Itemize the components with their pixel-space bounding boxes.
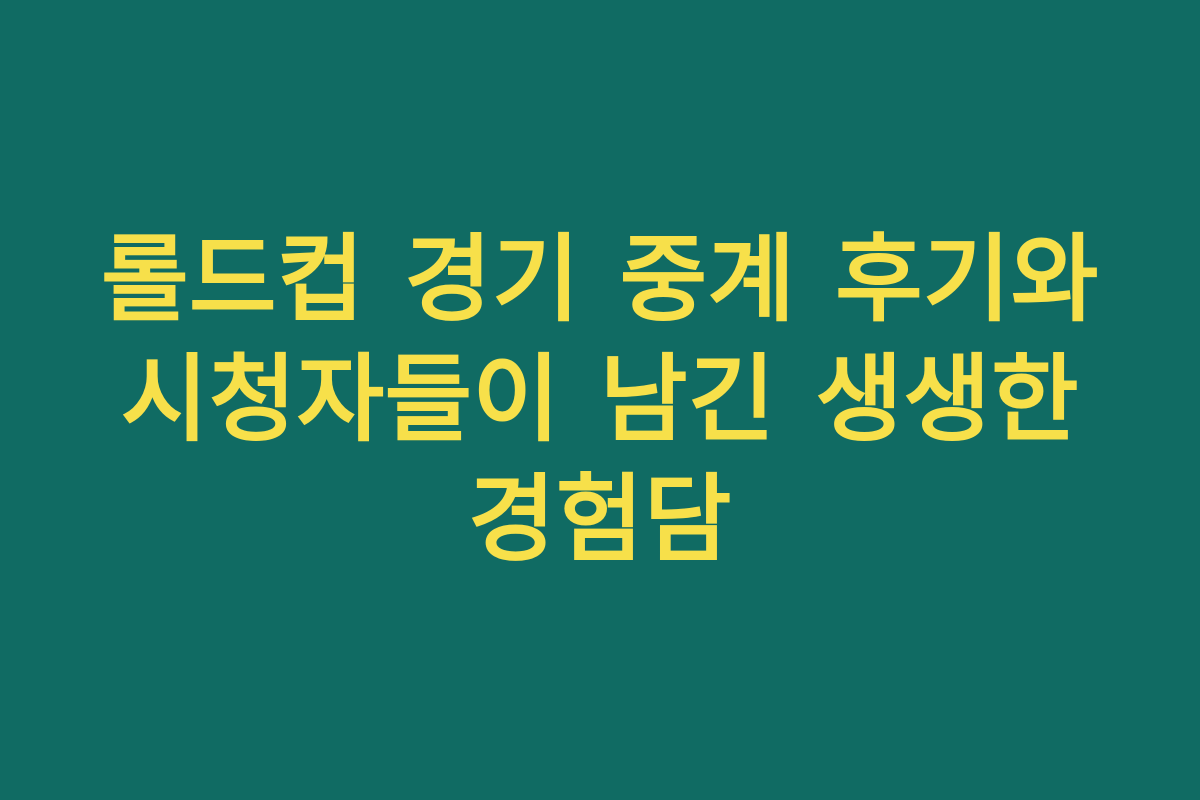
headline-block: 롤드컵 경기 중계 후기와 시청자들이 남긴 생생한 경험담 <box>60 220 1140 580</box>
headline-line-3: 경험담 <box>70 460 1130 580</box>
headline-line-1: 롤드컵 경기 중계 후기와 <box>70 220 1130 340</box>
title-banner: 롤드컵 경기 중계 후기와 시청자들이 남긴 생생한 경험담 <box>0 0 1200 800</box>
page-title: 롤드컵 경기 중계 후기와 시청자들이 남긴 생생한 경험담 <box>70 220 1130 580</box>
headline-line-2: 시청자들이 남긴 생생한 <box>70 340 1130 460</box>
